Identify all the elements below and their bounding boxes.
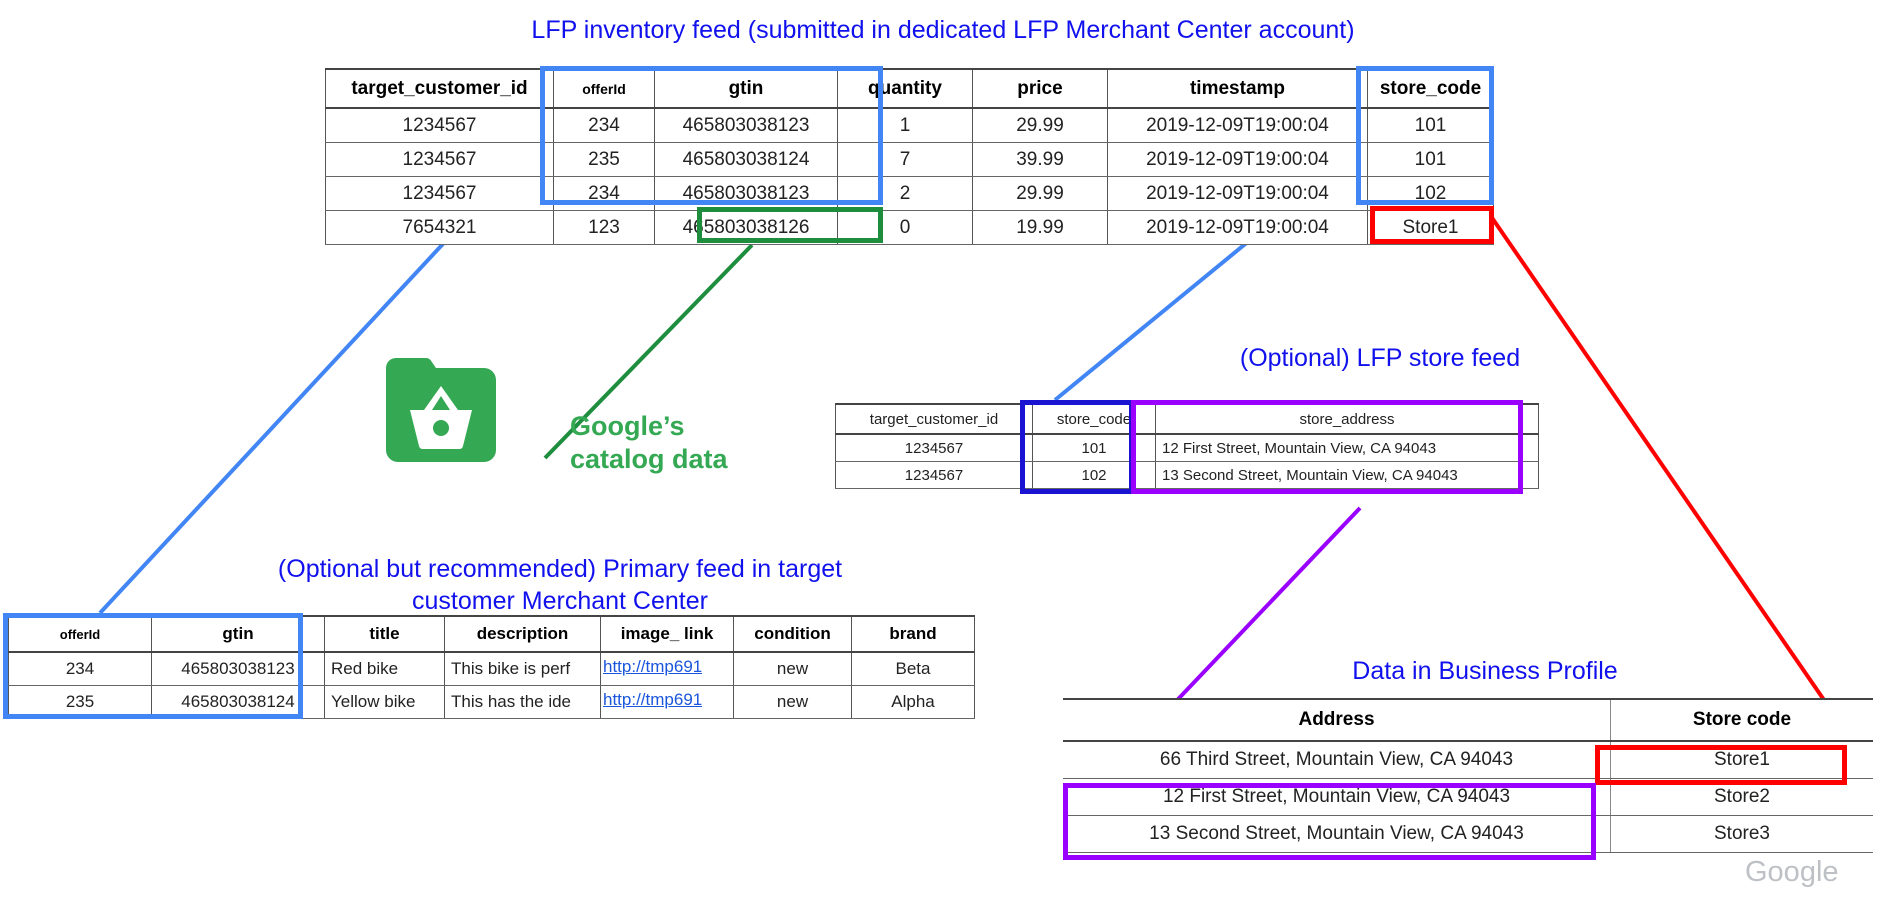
cell-description: This has the ide bbox=[451, 692, 594, 712]
cell-target-customer-id: 7654321 bbox=[326, 211, 554, 245]
col-price: price bbox=[973, 69, 1108, 108]
table-row: 13 Second Street, Mountain View, CA 9404… bbox=[1063, 816, 1873, 853]
col-gtin: gtin bbox=[152, 616, 325, 652]
cell-store-code: Store1 bbox=[1611, 741, 1874, 779]
table-row: 1234567 234 465803038123 1 29.99 2019-12… bbox=[326, 108, 1494, 143]
cell-store-code: 101 bbox=[1368, 143, 1494, 177]
cell-title: Red bike bbox=[325, 652, 445, 686]
business-profile-title: Data in Business Profile bbox=[1225, 655, 1745, 687]
cell-target-customer-id: 1234567 bbox=[836, 434, 1033, 462]
col-store-code: store_code bbox=[1368, 69, 1494, 108]
col-quantity: quantity bbox=[838, 69, 973, 108]
table-row: 1234567 234 465803038123 2 29.99 2019-12… bbox=[326, 177, 1494, 211]
cell-store-code: Store1 bbox=[1368, 211, 1494, 245]
cell-timestamp: 2019-12-09T19:00:04 bbox=[1108, 211, 1368, 245]
table-header-row: target_customer_id store_code store_addr… bbox=[836, 404, 1539, 434]
cell-title: Yellow bike bbox=[325, 686, 445, 719]
col-offerid: offerId bbox=[554, 69, 655, 108]
cell-store-address: 13 Second Street, Mountain View, CA 9404… bbox=[1156, 462, 1539, 489]
cell-store-address: 12 First Street, Mountain View, CA 94043 bbox=[1156, 434, 1539, 462]
cell-store-code: Store3 bbox=[1611, 816, 1874, 853]
col-brand: brand bbox=[852, 616, 975, 652]
google-watermark: Google bbox=[1745, 856, 1839, 889]
cell-timestamp: 2019-12-09T19:00:04 bbox=[1108, 177, 1368, 211]
cell-address: 13 Second Street, Mountain View, CA 9404… bbox=[1063, 816, 1611, 853]
cell-gtin: 465803038124 bbox=[655, 143, 838, 177]
col-description: description bbox=[445, 616, 601, 652]
col-store-code: Store code bbox=[1611, 699, 1874, 741]
cell-target-customer-id: 1234567 bbox=[326, 108, 554, 143]
col-target-customer-id: target_customer_id bbox=[326, 69, 554, 108]
col-offerid: offerId bbox=[9, 616, 152, 652]
lfp-store-feed-table-wrap: target_customer_id store_code store_addr… bbox=[835, 403, 1539, 489]
col-target-customer-id: target_customer_id bbox=[836, 404, 1033, 434]
cell-store-code: Store2 bbox=[1611, 779, 1874, 816]
cell-gtin: 465803038123 bbox=[655, 177, 838, 211]
business-profile-table: Address Store code 66 Third Street, Moun… bbox=[1063, 698, 1873, 853]
col-condition: condition bbox=[734, 616, 852, 652]
lfp-inventory-feed-table: target_customer_id offerId gtin quantity… bbox=[325, 68, 1494, 245]
cell-offerid: 234 bbox=[554, 177, 655, 211]
store-feed-title: (Optional) LFP store feed bbox=[1130, 342, 1630, 374]
diagram-canvas: LFP inventory feed (submitted in dedicat… bbox=[0, 0, 1886, 900]
cell-offerid: 235 bbox=[9, 686, 152, 719]
table-row: 12 First Street, Mountain View, CA 94043… bbox=[1063, 779, 1873, 816]
catalog-folder-icon bbox=[378, 350, 502, 468]
cell-image-link[interactable]: http://tmp691 bbox=[603, 690, 702, 710]
cell-offerid: 234 bbox=[554, 108, 655, 143]
cell-gtin: 465803038123 bbox=[655, 108, 838, 143]
table-row: 234 465803038123 Red bike This bike is p… bbox=[9, 652, 975, 686]
col-address: Address bbox=[1063, 699, 1611, 741]
cell-image-link[interactable]: http://tmp691 bbox=[603, 657, 702, 677]
lfp-inventory-feed-table-wrap: target_customer_id offerId gtin quantity… bbox=[325, 68, 1494, 245]
cell-price: 39.99 bbox=[973, 143, 1108, 177]
cell-target-customer-id: 1234567 bbox=[326, 143, 554, 177]
cell-store-code: 102 bbox=[1033, 462, 1156, 489]
cell-target-customer-id: 1234567 bbox=[836, 462, 1033, 489]
cell-timestamp: 2019-12-09T19:00:04 bbox=[1108, 108, 1368, 143]
cell-price: 29.99 bbox=[973, 108, 1108, 143]
inventory-feed-title: LFP inventory feed (submitted in dedicat… bbox=[0, 14, 1886, 46]
cell-offerid: 234 bbox=[9, 652, 152, 686]
cell-offerid: 235 bbox=[554, 143, 655, 177]
col-image-link: image_ link bbox=[601, 616, 734, 652]
table-row: 1234567 235 465803038124 7 39.99 2019-12… bbox=[326, 143, 1494, 177]
cell-timestamp: 2019-12-09T19:00:04 bbox=[1108, 143, 1368, 177]
cell-store-code: 102 bbox=[1368, 177, 1494, 211]
col-gtin: gtin bbox=[655, 69, 838, 108]
cell-condition: new bbox=[734, 686, 852, 719]
cell-quantity: 2 bbox=[838, 177, 973, 211]
cell-price: 29.99 bbox=[973, 177, 1108, 211]
table-row: 235 465803038124 Yellow bike This has th… bbox=[9, 686, 975, 719]
primary-feed-title: (Optional but recommended) Primary feed … bbox=[180, 553, 940, 617]
cell-gtin: 465803038126 bbox=[655, 211, 838, 245]
cell-target-customer-id: 1234567 bbox=[326, 177, 554, 211]
primary-feed-table-wrap: offerId gtin title description image_ li… bbox=[8, 615, 975, 719]
business-profile-table-wrap: Address Store code 66 Third Street, Moun… bbox=[1063, 698, 1873, 853]
cell-brand: Beta bbox=[852, 652, 975, 686]
primary-feed-table: offerId gtin title description image_ li… bbox=[8, 615, 975, 719]
cell-store-code: 101 bbox=[1368, 108, 1494, 143]
cell-description: This bike is perf bbox=[451, 659, 594, 679]
cell-quantity: 1 bbox=[838, 108, 973, 143]
table-row: 1234567 101 12 First Street, Mountain Vi… bbox=[836, 434, 1539, 462]
catalog-data-label: Google’s catalog data bbox=[570, 410, 728, 476]
lfp-store-feed-table: target_customer_id store_code store_addr… bbox=[835, 403, 1539, 489]
cell-quantity: 0 bbox=[838, 211, 973, 245]
cell-gtin: 465803038123 bbox=[152, 652, 325, 686]
table-header-row: offerId gtin title description image_ li… bbox=[9, 616, 975, 652]
cell-gtin: 465803038124 bbox=[152, 686, 325, 719]
cell-price: 19.99 bbox=[973, 211, 1108, 245]
cell-condition: new bbox=[734, 652, 852, 686]
col-title: title bbox=[325, 616, 445, 652]
table-header-row: Address Store code bbox=[1063, 699, 1873, 741]
table-row: 66 Third Street, Mountain View, CA 94043… bbox=[1063, 741, 1873, 779]
cell-brand: Alpha bbox=[852, 686, 975, 719]
table-row: 1234567 102 13 Second Street, Mountain V… bbox=[836, 462, 1539, 489]
cell-quantity: 7 bbox=[838, 143, 973, 177]
col-store-code: store_code bbox=[1033, 404, 1156, 434]
table-row: 7654321 123 465803038126 0 19.99 2019-12… bbox=[326, 211, 1494, 245]
col-timestamp: timestamp bbox=[1108, 69, 1368, 108]
cell-store-code: 101 bbox=[1033, 434, 1156, 462]
col-store-address: store_address bbox=[1156, 404, 1539, 434]
cell-address: 12 First Street, Mountain View, CA 94043 bbox=[1063, 779, 1611, 816]
cell-address: 66 Third Street, Mountain View, CA 94043 bbox=[1063, 741, 1611, 779]
cell-offerid: 123 bbox=[554, 211, 655, 245]
table-header-row: target_customer_id offerId gtin quantity… bbox=[326, 69, 1494, 108]
